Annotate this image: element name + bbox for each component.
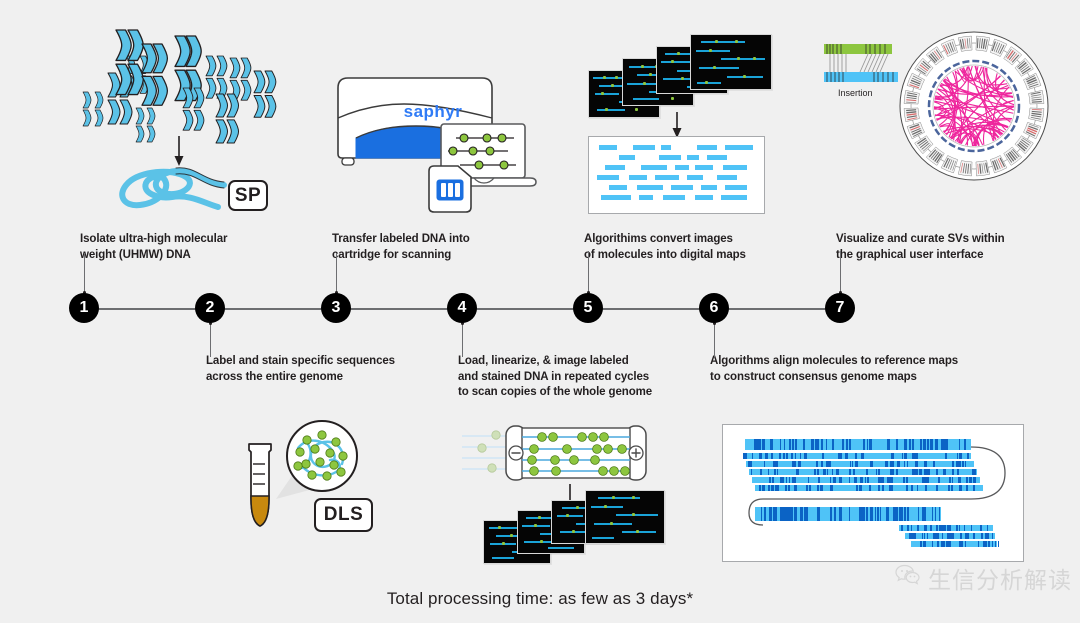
sp-badge-label: SP [235, 185, 261, 207]
aligned-molecule-row [911, 541, 997, 547]
timeline-node-4[interactable]: 4 [447, 293, 477, 323]
timeline-caption-1: Isolate ultra-high molecular weight (UHM… [80, 232, 280, 263]
dls-badge-label: DLS [324, 504, 364, 526]
aligned-molecule-row [899, 525, 993, 531]
sv-insertion-view [822, 42, 902, 89]
timeline-caption-7: Visualize and curate SVs within the grap… [836, 232, 1036, 263]
timeline-node-5[interactable]: 5 [573, 293, 603, 323]
aligned-molecule-row [752, 477, 980, 483]
aligned-molecule-row [749, 469, 977, 475]
digital-map-panel [588, 136, 765, 214]
aligned-molecule-row [743, 453, 971, 459]
nanochannel-chip-illustration [462, 424, 678, 487]
svg-text:saphyr: saphyr [404, 102, 463, 121]
timeline-caption-5: Algorithims convert images of molecules … [584, 232, 784, 263]
timeline-caption-2: Label and stain specific sequences acros… [206, 354, 446, 385]
timeline-caption-6: Algorithms align molecules to reference … [710, 354, 1000, 385]
tangled-dna-illustration [106, 163, 236, 218]
timeline-stem-6 [714, 323, 715, 357]
workflow-diagram: SP saphyr [0, 0, 1080, 623]
sp-badge: SP [228, 180, 268, 211]
timeline-stem-7 [840, 251, 841, 293]
timeline-node-2[interactable]: 2 [195, 293, 225, 323]
timeline-caption-3: Transfer labeled DNA into cartridge for … [332, 232, 512, 263]
aligned-molecule-row [746, 461, 974, 467]
timeline-stem-2 [210, 323, 211, 357]
watermark-label: 生信分析解读 [928, 561, 1072, 595]
timeline-node-3[interactable]: 3 [321, 293, 351, 323]
wechat-icon [895, 564, 921, 592]
timeline-stem-5 [588, 251, 589, 293]
insertion-label: Insertion [838, 88, 873, 98]
timeline-node-1[interactable]: 1 [69, 293, 99, 323]
timeline-caption-4: Load, linearize, & image labeled and sta… [458, 354, 698, 401]
flow-cell-chip-illustration [424, 163, 476, 220]
scan-image-tile [585, 490, 665, 544]
dls-badge: DLS [314, 498, 373, 532]
timeline-stem-4 [462, 323, 463, 357]
timeline-stem-3 [336, 253, 337, 293]
timeline-node-7[interactable]: 7 [825, 293, 855, 323]
timeline-stem-1 [84, 253, 85, 293]
watermark: 生信分析解读 [895, 561, 1072, 595]
consensus-genome-map-panel [722, 424, 1024, 562]
scan-image-tile [690, 34, 772, 90]
timeline-node-6[interactable]: 6 [699, 293, 729, 323]
circos-plot [898, 30, 1050, 187]
aligned-molecule-row [905, 533, 995, 539]
aligned-molecule-row [755, 485, 983, 491]
labeled-dna-magnified-view [284, 418, 360, 499]
